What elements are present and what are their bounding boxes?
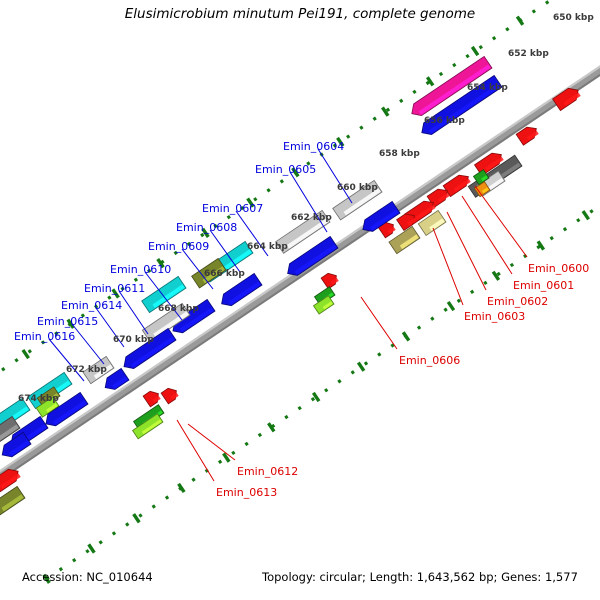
scale-tick-label: 656 kbp <box>424 117 465 126</box>
gene-red-rev-k[interactable] <box>161 385 180 404</box>
gene-label-emin_0613[interactable]: Emin_0613 <box>216 487 277 498</box>
gene-red-rev-j[interactable] <box>143 388 162 407</box>
gene-label-emin_0612[interactable]: Emin_0612 <box>237 466 298 477</box>
gene-label-emin_0601[interactable]: Emin_0601 <box>513 280 574 291</box>
gene-red-rev-i[interactable] <box>321 270 340 289</box>
gene-label-emin_0614[interactable]: Emin_0614 <box>61 300 122 311</box>
scale-tick-label: 660 kbp <box>337 184 378 193</box>
gene-label-emin_0615[interactable]: Emin_0615 <box>37 316 98 327</box>
scale-tick-label: 668 kbp <box>158 305 199 314</box>
genome-viewer: Elusimicrobium minutum Pei191, complete … <box>0 0 600 600</box>
leader-line-emin_0603 <box>433 228 463 305</box>
leader-line-emin_0600 <box>475 186 527 257</box>
scale-tick-label: 666 kbp <box>204 270 245 279</box>
gene-label-emin_0606[interactable]: Emin_0606 <box>399 355 460 366</box>
gene-label-emin_0604[interactable]: Emin_0604 <box>283 141 344 152</box>
gene-label-emin_0610[interactable]: Emin_0610 <box>110 264 171 275</box>
scale-tick-label: 670 kbp <box>113 336 154 345</box>
leader-line-emin_0611 <box>119 291 148 334</box>
gene-label-emin_0608[interactable]: Emin_0608 <box>176 222 237 233</box>
leader-line-emin_0604 <box>318 149 352 203</box>
leader-line-emin_0615 <box>72 324 104 364</box>
gene-label-emin_0609[interactable]: Emin_0609 <box>148 241 209 252</box>
footer-accession: Accession: NC_010644 <box>22 572 153 584</box>
gene-olive-c[interactable] <box>0 486 25 515</box>
scale-tick-label: 658 kbp <box>379 150 420 159</box>
scale-tick-label: 652 kbp <box>508 50 549 59</box>
scale-tick-label: 664 kbp <box>247 243 288 252</box>
page-title: Elusimicrobium minutum Pei191, complete … <box>0 8 600 22</box>
scale-tick-label: 674 kbp <box>18 395 59 404</box>
gene-label-emin_0600[interactable]: Emin_0600 <box>528 263 589 274</box>
genome-backbone <box>0 52 600 497</box>
scale-tick-label: 654 kbp <box>467 84 508 93</box>
gene-label-emin_0611[interactable]: Emin_0611 <box>84 283 145 294</box>
leader-line-emin_0601 <box>462 196 512 274</box>
leader-line-emin_0606 <box>361 297 397 349</box>
gene-label-emin_0616[interactable]: Emin_0616 <box>14 331 75 342</box>
footer-metadata: Topology: circular; Length: 1,643,562 bp… <box>262 572 578 584</box>
leader-line-emin_0612 <box>188 424 235 460</box>
scale-tick-label: 662 kbp <box>291 214 332 223</box>
gene-label-emin_0605[interactable]: Emin_0605 <box>255 164 316 175</box>
gene-label-emin_0602[interactable]: Emin_0602 <box>487 296 548 307</box>
scale-tick-label: 672 kbp <box>66 366 107 375</box>
gene-label-leader-lines <box>49 149 527 481</box>
gene-label-emin_0603[interactable]: Emin_0603 <box>464 311 525 322</box>
gene-label-emin_0607[interactable]: Emin_0607 <box>202 203 263 214</box>
scale-tick-label: 650 kbp <box>553 14 594 23</box>
